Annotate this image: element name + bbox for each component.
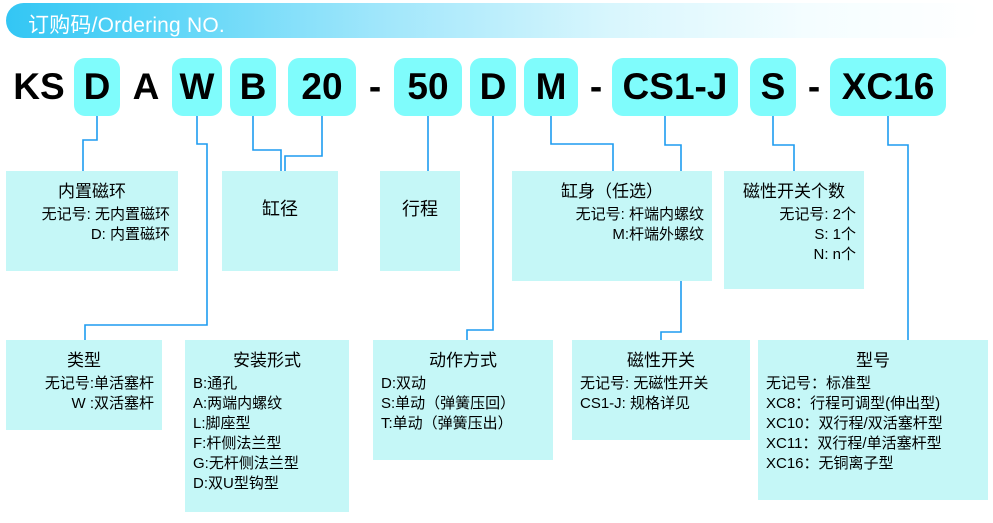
desc-line: D:双动 — [381, 374, 545, 394]
desc-title-mounting-style: 安装形式 — [193, 346, 341, 371]
desc-line: W :双活塞杆 — [14, 394, 154, 414]
ordering-code-row: KSDAWB20-50DM-CS1-JS-XC16 — [0, 58, 993, 122]
code-token-20: 20 — [288, 58, 356, 116]
desc-line: L:脚座型 — [193, 414, 341, 434]
desc-box-magnet-ring: 内置磁环无记号: 无内置磁环D: 内置磁环 — [6, 171, 178, 271]
desc-lines-switch-count: 无记号: 2个S: 1个N: n个 — [732, 205, 856, 265]
desc-title-action-type: 动作方式 — [381, 346, 545, 371]
desc-line: XC11：双行程/单活塞杆型 — [766, 434, 980, 454]
desc-box-type: 类型无记号:单活塞杆W :双活塞杆 — [6, 340, 162, 430]
desc-line: F:杆侧法兰型 — [193, 434, 341, 454]
desc-title-cylinder-body: 缸身（任选） — [520, 177, 704, 202]
desc-line: N: n个 — [732, 245, 856, 265]
desc-box-cylinder-body: 缸身（任选）无记号: 杆端内螺纹M:杆端外螺纹 — [512, 171, 712, 281]
desc-title-stroke: 行程 — [388, 195, 452, 221]
desc-title-magnet-ring: 内置磁环 — [14, 177, 170, 202]
code-token-xc16: XC16 — [830, 58, 946, 116]
code-token-m: M — [524, 58, 578, 116]
desc-box-stroke: 行程 — [380, 171, 460, 271]
desc-line: 无记号: 2个 — [732, 205, 856, 225]
desc-line: 无记号: 无磁性开关 — [580, 374, 742, 394]
desc-line: XC16：无铜离子型 — [766, 454, 980, 474]
code-token-d: D — [470, 58, 516, 116]
desc-box-mounting-style: 安装形式B:通孔A:两端内螺纹L:脚座型F:杆侧法兰型G:无杆侧法兰型D:双U型… — [185, 340, 349, 512]
connector-line — [773, 116, 794, 171]
connector-line — [83, 116, 97, 171]
connector-line — [253, 116, 281, 171]
desc-box-model-number: 型号无记号：标准型XC8：行程可调型(伸出型)XC10：双行程/双活塞杆型XC1… — [758, 340, 988, 500]
desc-box-switch-count: 磁性开关个数无记号: 2个S: 1个N: n个 — [724, 171, 864, 289]
code-token-: - — [802, 58, 826, 116]
desc-line: D: 内置磁环 — [14, 225, 170, 245]
desc-line: 无记号：标准型 — [766, 374, 980, 394]
desc-lines-action-type: D:双动S:单动（弹簧压回）T:单动（弹簧压出） — [381, 374, 545, 434]
desc-line: A:两端内螺纹 — [193, 394, 341, 414]
connector-line — [551, 116, 613, 171]
code-token-s: S — [750, 58, 796, 116]
desc-line: 无记号: 无内置磁环 — [14, 205, 170, 225]
desc-line: G:无杆侧法兰型 — [193, 454, 341, 474]
desc-lines-type: 无记号:单活塞杆W :双活塞杆 — [14, 374, 154, 414]
code-token-: - — [362, 58, 388, 116]
desc-title-magnetic-switch: 磁性开关 — [580, 346, 742, 371]
code-token-50: 50 — [394, 58, 462, 116]
desc-title-bore-size: 缸径 — [230, 195, 330, 221]
desc-line: B:通孔 — [193, 374, 341, 394]
desc-lines-cylinder-body: 无记号: 杆端内螺纹M:杆端外螺纹 — [520, 205, 704, 245]
code-token-a: A — [126, 58, 166, 116]
page-title: 订购码/Ordering NO. — [28, 9, 225, 39]
desc-lines-magnetic-switch: 无记号: 无磁性开关CS1-J: 规格详见 — [580, 374, 742, 414]
desc-line: 无记号: 杆端内螺纹 — [520, 205, 704, 225]
code-token-ks: KS — [10, 58, 68, 116]
desc-lines-magnet-ring: 无记号: 无内置磁环D: 内置磁环 — [14, 205, 170, 245]
code-token-b: B — [230, 58, 276, 116]
code-token-d: D — [74, 58, 120, 116]
code-token-: - — [584, 58, 608, 116]
desc-line: XC10：双行程/双活塞杆型 — [766, 414, 980, 434]
desc-line: XC8：行程可调型(伸出型) — [766, 394, 980, 414]
desc-line: 无记号:单活塞杆 — [14, 374, 154, 394]
desc-title-type: 类型 — [14, 346, 154, 371]
desc-line: T:单动（弹簧压出） — [381, 414, 545, 434]
desc-title-switch-count: 磁性开关个数 — [732, 177, 856, 202]
desc-lines-model-number: 无记号：标准型XC8：行程可调型(伸出型)XC10：双行程/双活塞杆型XC11：… — [766, 374, 980, 474]
connector-line — [285, 116, 322, 171]
connector-line — [467, 116, 493, 340]
desc-lines-mounting-style: B:通孔A:两端内螺纹L:脚座型F:杆侧法兰型G:无杆侧法兰型D:双U型钩型 — [193, 374, 341, 494]
desc-box-bore-size: 缸径 — [222, 171, 338, 271]
desc-line: D:双U型钩型 — [193, 474, 341, 494]
desc-line: M:杆端外螺纹 — [520, 225, 704, 245]
desc-line: CS1-J: 规格详见 — [580, 394, 742, 414]
desc-line: S:单动（弹簧压回） — [381, 394, 545, 414]
connector-line — [888, 116, 908, 340]
desc-box-action-type: 动作方式D:双动S:单动（弹簧压回）T:单动（弹簧压出） — [373, 340, 553, 460]
code-token-w: W — [172, 58, 222, 116]
code-token-cs1-j: CS1-J — [612, 58, 738, 116]
desc-line: S: 1个 — [732, 225, 856, 245]
desc-box-magnetic-switch: 磁性开关无记号: 无磁性开关CS1-J: 规格详见 — [572, 340, 750, 440]
desc-title-model-number: 型号 — [766, 346, 980, 371]
header-banner: 订购码/Ordering NO. — [6, 3, 981, 38]
